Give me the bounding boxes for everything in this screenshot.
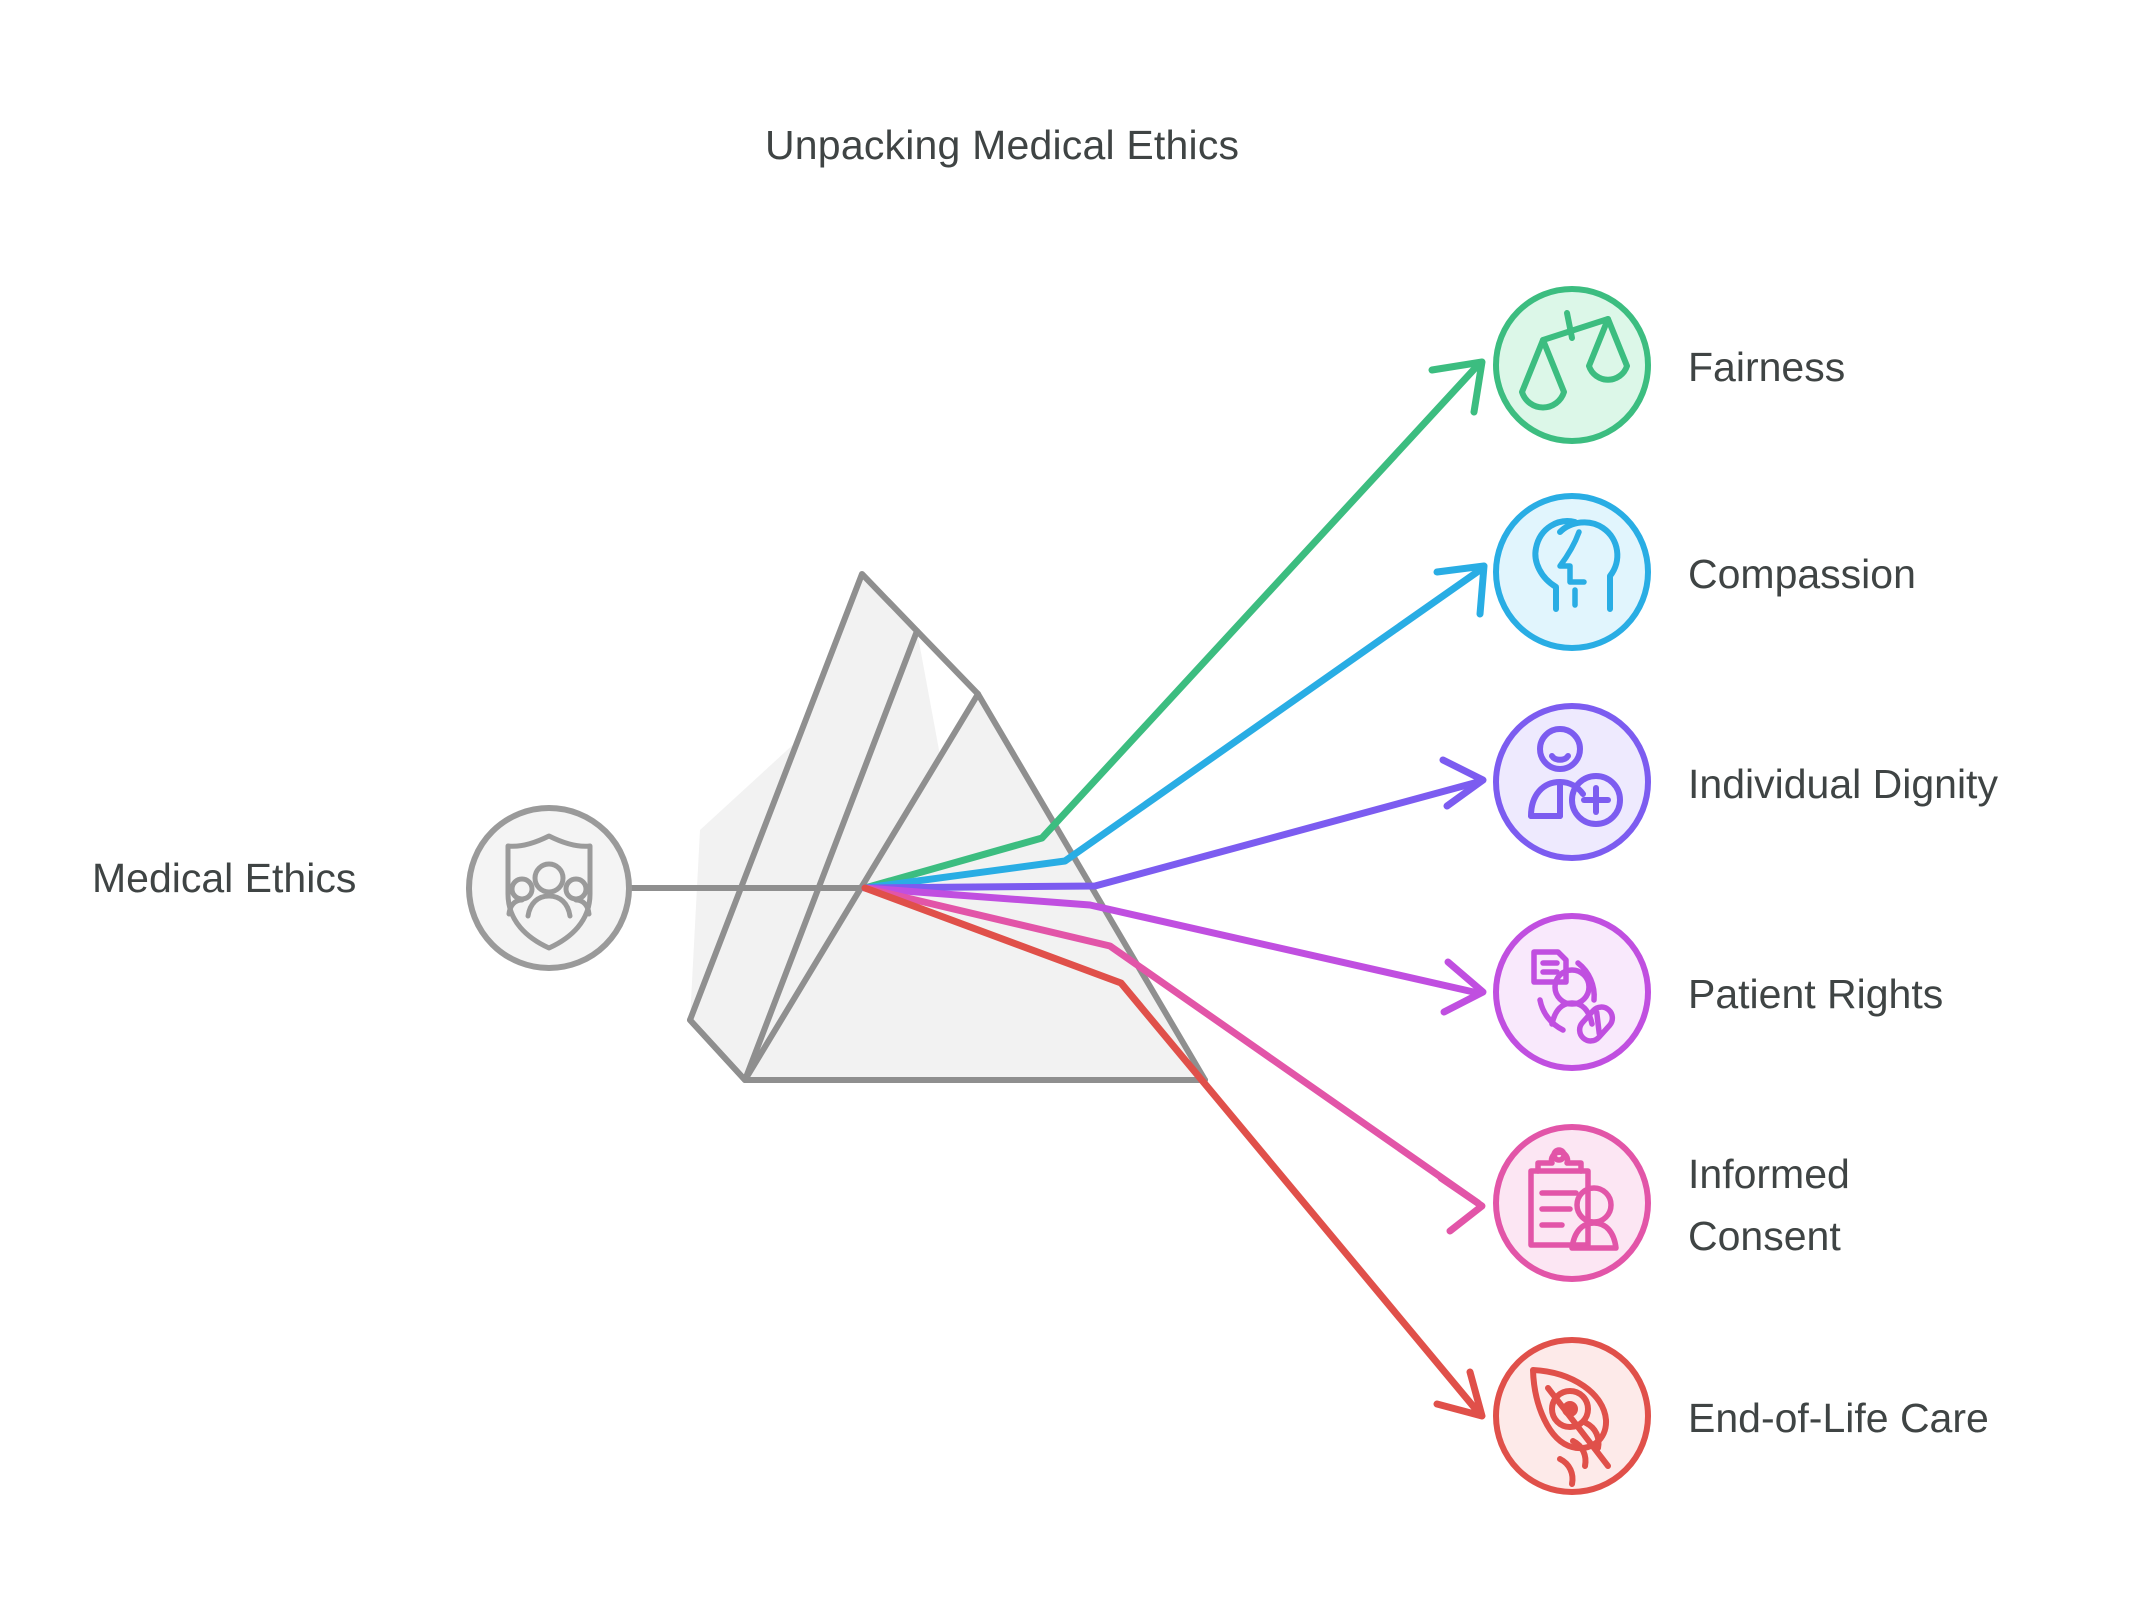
node-individual-dignity[interactable] <box>1496 706 1648 858</box>
source-node[interactable] <box>469 808 629 968</box>
node-label-end-of-life-care: End-of-Life Care <box>1688 1387 1989 1449</box>
diagram-canvas: Unpacking Medical Ethics Medical Ethics … <box>0 0 2135 1610</box>
node-fairness[interactable] <box>1496 289 1648 441</box>
node-label-compassion: Compassion <box>1688 543 1916 605</box>
node-informed-consent-circle <box>1496 1127 1648 1279</box>
node-patient-rights-circle <box>1496 916 1648 1068</box>
node-compassion[interactable] <box>1496 496 1648 648</box>
node-label-informed-consent: Informed Consent <box>1688 1143 1850 1267</box>
prism <box>690 574 1205 1080</box>
node-informed-consent[interactable] <box>1496 1127 1648 1279</box>
source-label: Medical Ethics <box>92 855 356 902</box>
page-title: Unpacking Medical Ethics <box>765 122 1239 169</box>
source-node-circle <box>469 808 629 968</box>
node-label-patient-rights: Patient Rights <box>1688 963 1943 1025</box>
node-label-individual-dignity: Individual Dignity <box>1688 753 1998 815</box>
node-patient-rights[interactable] <box>1496 916 1648 1068</box>
node-end-of-life-care[interactable] <box>1496 1340 1648 1492</box>
node-label-fairness: Fairness <box>1688 336 1845 398</box>
